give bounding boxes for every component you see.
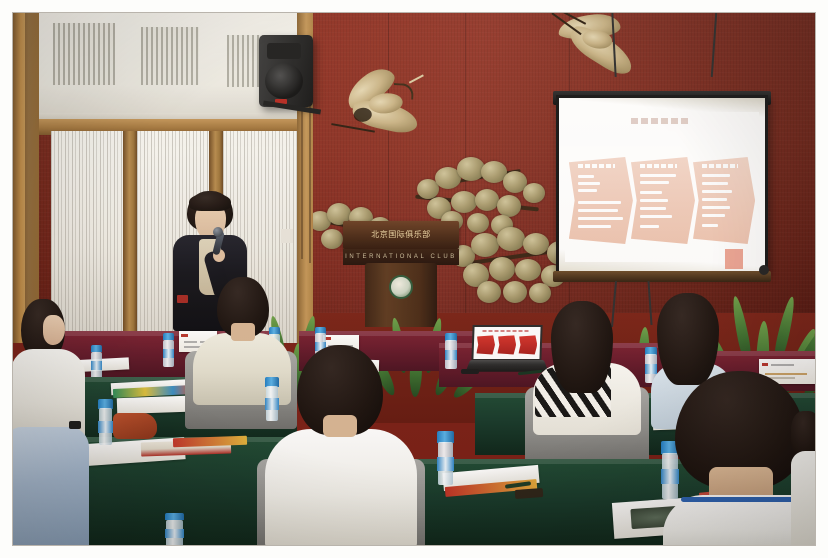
conference-photograph: 北京国际俱乐部 INTERNATIONAL CLUB: [12, 12, 816, 546]
screen-roller-end: [759, 265, 769, 275]
water-bottle: [445, 333, 457, 369]
club-sign-chinese-text: 北京国际俱乐部: [371, 231, 431, 239]
wall-socket: [281, 229, 293, 243]
slide-chevron-block-3: [693, 157, 755, 244]
photo-frame: 北京国际俱乐部 INTERNATIONAL CLUB: [0, 0, 828, 558]
attendee-striped-sweater: [525, 301, 649, 467]
projection-screen[interactable]: [556, 95, 768, 275]
screen-projection-hotspot: [725, 249, 743, 269]
attendee-neck: [231, 323, 255, 341]
attendee-left-foreground: [12, 299, 93, 546]
handbag: [113, 413, 157, 439]
club-sign-english-text: INTERNATIONAL CLUB: [345, 254, 457, 260]
ventilation-grille: [53, 23, 115, 85]
remote-on-table: [461, 369, 479, 374]
paper-sheet-mid-left: [117, 396, 188, 414]
attendee-center-front: [253, 345, 429, 546]
projection-screen-surface: [559, 98, 765, 272]
crane-figure-left: [340, 66, 439, 145]
slide-block-header: [702, 164, 738, 168]
attendee-watch: [69, 421, 81, 429]
attendee-right-edge: [791, 411, 816, 546]
slide-block-header: [640, 164, 677, 168]
ventilation-grille: [141, 27, 199, 85]
cable-run: [309, 105, 311, 263]
laptop-slide-block-2: [497, 335, 516, 354]
club-emblem: [389, 275, 413, 299]
club-sign-chinese: 北京国际俱乐部: [343, 221, 459, 249]
slide-chevron-block-1: [569, 157, 633, 244]
attendee-hair: [551, 301, 613, 393]
water-bottle: [98, 399, 113, 445]
screen-bottom-weight-bar: [553, 271, 771, 282]
laptop-slide-title: [482, 330, 530, 332]
cable-run: [301, 109, 303, 259]
water-bottle: [165, 513, 184, 546]
attendee-blue-garment: [12, 427, 89, 546]
presentation-slide: [565, 112, 759, 262]
slide-chevron-block-2: [631, 157, 695, 244]
phone-on-table: [515, 488, 544, 499]
presenter-fringe: [189, 193, 231, 211]
microphone-head: [213, 227, 223, 237]
slide-title-text: [631, 118, 689, 124]
water-bottle: [437, 431, 454, 485]
water-bottle: [163, 333, 174, 367]
slide-block-header: [578, 164, 615, 168]
pa-speaker: [259, 35, 313, 107]
attendee-shirt: [265, 429, 417, 546]
attendee-neck: [323, 415, 357, 437]
attendee-shirt: [791, 451, 816, 546]
laptop-slide-block-1: [476, 335, 495, 354]
wood-pillar-left-shadow: [25, 13, 39, 343]
